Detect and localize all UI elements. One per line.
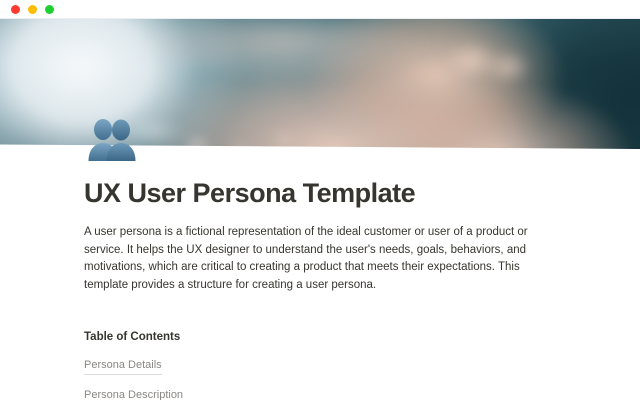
page-intro-paragraph: A user persona is a fictional representa… [84, 224, 554, 294]
busts-in-silhouette-icon[interactable] [86, 118, 140, 162]
list-item: Persona Description [84, 385, 584, 400]
toc-link-persona-details[interactable]: Persona Details [84, 358, 162, 375]
table-of-contents-heading: Table of Contents [84, 329, 584, 345]
page-content: UX User Persona Template A user persona … [84, 176, 584, 400]
list-item: Persona Details [84, 355, 584, 375]
browser-window: UX User Persona Template A user persona … [0, 0, 640, 400]
window-close-button[interactable] [11, 5, 20, 14]
window-maximize-button[interactable] [45, 5, 54, 14]
cover-photo-highlight [141, 19, 429, 79]
window-minimize-button[interactable] [28, 5, 37, 14]
toc-link-persona-description[interactable]: Persona Description [84, 388, 183, 400]
table-of-contents-list: Persona Details Persona Description [84, 355, 584, 400]
window-titlebar [0, 0, 640, 19]
page-title: UX User Persona Template [84, 176, 584, 210]
